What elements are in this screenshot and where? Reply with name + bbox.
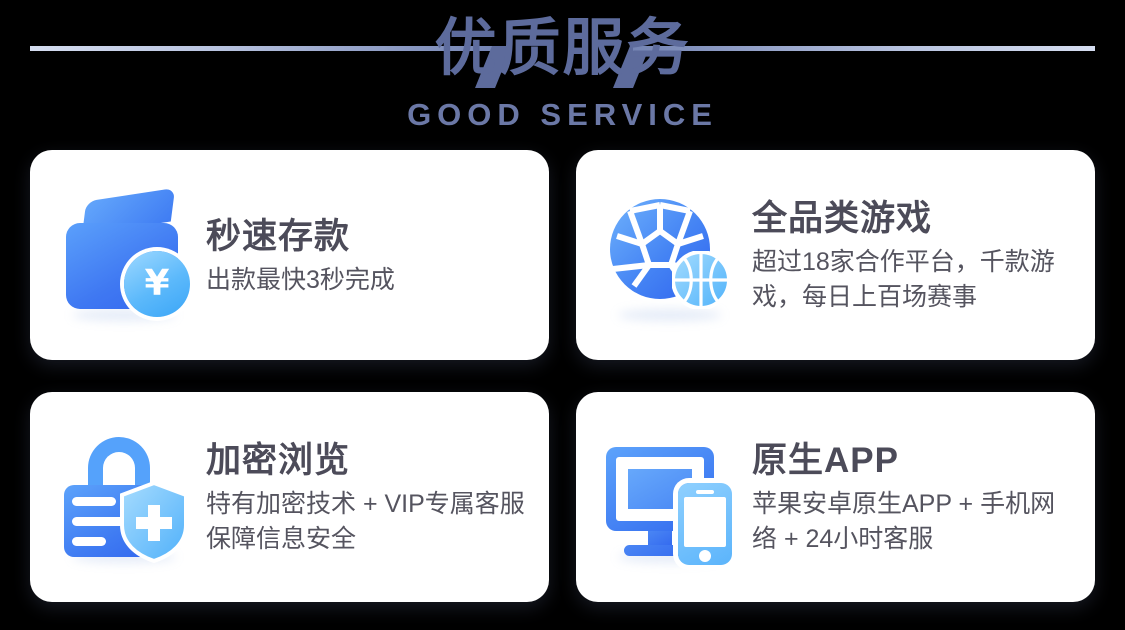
card-description: 超过18家合作平台，千款游戏，每日上百场赛事 bbox=[752, 245, 1077, 315]
feature-card-text: 秒速存款 出款最快3秒完成 bbox=[206, 213, 531, 298]
card-description: 苹果安卓原生APP + 手机网络 + 24小时客服 bbox=[752, 487, 1077, 557]
wallet-icon: ¥ bbox=[56, 185, 196, 325]
phone-screen bbox=[684, 497, 726, 547]
card-description: 特有加密技术 + VIP专属客服保障信息安全 bbox=[206, 487, 531, 557]
mobile-phone-icon bbox=[678, 483, 732, 565]
padlock-line-1 bbox=[72, 497, 116, 506]
basketball-icon bbox=[672, 251, 730, 309]
soccer-ball-icon bbox=[602, 185, 742, 325]
feature-card-text: 原生APP 苹果安卓原生APP + 手机网络 + 24小时客服 bbox=[752, 437, 1077, 557]
shield-plus-icon bbox=[118, 481, 190, 563]
page-header: 优质服务 GOOD SERVICE bbox=[0, 0, 1125, 146]
feature-card-text: 全品类游戏 超过18家合作平台，千款游戏，每日上百场赛事 bbox=[752, 195, 1077, 315]
card-description: 出款最快3秒完成 bbox=[206, 263, 531, 298]
card-title: 全品类游戏 bbox=[752, 197, 1077, 241]
card-title: 原生APP bbox=[752, 439, 1077, 483]
page-title: 优质服务 bbox=[0, 8, 1125, 88]
monitor-icon bbox=[602, 427, 742, 567]
ball-icon-shadow bbox=[618, 309, 722, 321]
card-title: 秒速存款 bbox=[206, 215, 531, 259]
padlock-icon bbox=[56, 427, 196, 567]
feature-card-native-app[interactable]: 原生APP 苹果安卓原生APP + 手机网络 + 24小时客服 bbox=[576, 392, 1095, 602]
feature-card-grid: ¥ 秒速存款 出款最快3秒完成 bbox=[30, 150, 1095, 602]
phone-home-button bbox=[699, 550, 711, 562]
feature-card-instant-deposit[interactable]: ¥ 秒速存款 出款最快3秒完成 bbox=[30, 150, 549, 360]
phone-speaker bbox=[696, 490, 714, 494]
card-title: 加密浏览 bbox=[206, 439, 531, 483]
feature-card-all-game-categories[interactable]: 全品类游戏 超过18家合作平台，千款游戏，每日上百场赛事 bbox=[576, 150, 1095, 360]
padlock-line-3 bbox=[72, 537, 106, 546]
page-subtitle: GOOD SERVICE bbox=[0, 96, 1125, 134]
feature-card-encrypted-browsing[interactable]: 加密浏览 特有加密技术 + VIP专属客服保障信息安全 bbox=[30, 392, 549, 602]
feature-card-text: 加密浏览 特有加密技术 + VIP专属客服保障信息安全 bbox=[206, 437, 531, 557]
yen-coin-icon: ¥ bbox=[124, 251, 190, 317]
